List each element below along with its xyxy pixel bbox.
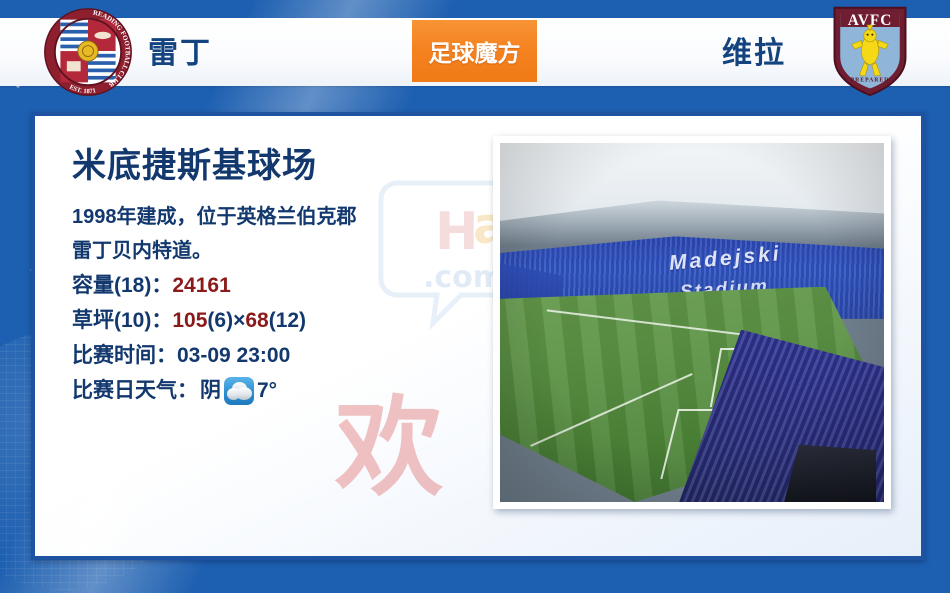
- capacity-value: 24161: [172, 274, 230, 297]
- site-logo-text: 足球魔方: [429, 34, 521, 68]
- app-root: READING FOOTBALL CLUB EST. 1871 雷丁 足球魔方 …: [0, 0, 950, 593]
- weather-condition: 阴: [200, 373, 221, 408]
- weather-temperature: 7°: [257, 373, 277, 408]
- pitch-width-rank: (12): [269, 309, 306, 332]
- weather-label: 比赛日天气：: [72, 373, 198, 408]
- pitch-length-rank: (6): [207, 309, 233, 332]
- svg-text:PREPARED: PREPARED: [851, 78, 890, 84]
- home-team-name: 雷丁: [148, 28, 212, 72]
- pitch-label: 草坪(10)：: [72, 309, 172, 332]
- match-time-row: 比赛时间：03-09 23:00: [72, 338, 472, 373]
- pitch-width-value: 68: [245, 309, 268, 332]
- stadium-info-panel: H a o .com 欢 米底捷斯基球场 1998年建成，位于英格兰伯克郡 雷丁…: [31, 112, 925, 560]
- stadium-photo: Madejski Stadium: [500, 143, 884, 502]
- away-team-name: 维拉: [722, 28, 786, 72]
- stadium-title: 米底捷斯基球场: [72, 146, 472, 186]
- capacity-label: 容量(18)：: [72, 274, 172, 297]
- cloudy-icon: [224, 377, 254, 405]
- match-time-value: 03-09 23:00: [177, 344, 290, 367]
- stadium-description-line-2: 雷丁贝内特道。: [72, 234, 472, 268]
- reading-fc-crest-icon: READING FOOTBALL CLUB EST. 1871: [42, 6, 134, 98]
- stadium-info-list: 米底捷斯基球场 1998年建成，位于英格兰伯克郡 雷丁贝内特道。 容量(18)：…: [72, 146, 472, 408]
- pitch-dimension-separator: ×: [233, 309, 245, 332]
- stadium-pitch-row: 草坪(10)：105(6)×68(12): [72, 303, 472, 338]
- stadium-description-line-1: 1998年建成，位于英格兰伯克郡: [72, 200, 472, 234]
- stadium-photo-frame[interactable]: Madejski Stadium: [493, 136, 891, 509]
- photo-vignette: [500, 143, 884, 502]
- pitch-length-value: 105: [172, 309, 207, 332]
- match-weather-row: 比赛日天气：阴7°: [72, 373, 472, 408]
- aston-villa-crest-icon: AVFC PREPARED: [826, 2, 914, 98]
- site-logo[interactable]: 足球魔方: [412, 20, 537, 82]
- match-time-label: 比赛时间：: [72, 344, 177, 367]
- stadium-capacity-row: 容量(18)：24161: [72, 268, 472, 303]
